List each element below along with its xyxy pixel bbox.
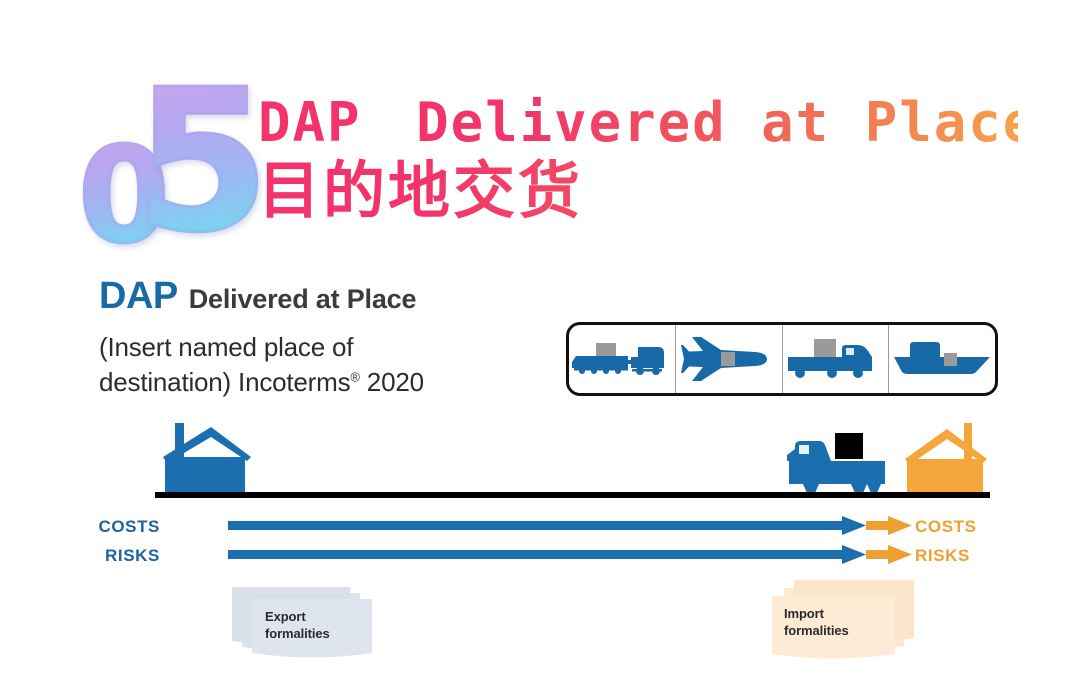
import-formalities-line1: Import <box>784 606 849 623</box>
sea-icon <box>892 339 992 379</box>
air-icon <box>681 337 777 381</box>
incoterm-subtitle-line2: destination) Incoterms® 2020 <box>99 365 424 400</box>
export-formalities-text: Export formalities <box>265 609 330 643</box>
incoterm-name: Delivered at Place <box>189 284 417 314</box>
costs-arrow <box>228 513 913 541</box>
incoterm-subtitle: (Insert named place of destination) Inco… <box>99 330 424 399</box>
buyer-factory-icon <box>903 423 991 495</box>
transport-mode-cell-rail[interactable] <box>569 325 676 393</box>
incoterm-subtitle-text: destination) Incoterms <box>99 367 350 397</box>
incoterm-year: 2020 <box>360 367 424 397</box>
transport-mode-cell-road[interactable] <box>783 325 890 393</box>
incoterm-subtitle-line1: (Insert named place of <box>99 330 424 365</box>
transport-mode-cell-air[interactable] <box>676 325 783 393</box>
incoterm-diagram: COSTS RISKS COSTS RISKS <box>0 405 1090 685</box>
import-formalities-line2: formalities <box>784 623 849 640</box>
transport-mode-cell-sea[interactable] <box>889 325 995 393</box>
export-formalities-line2: formalities <box>265 626 330 643</box>
delivery-truck-icon <box>785 433 895 495</box>
registered-mark: ® <box>350 369 359 384</box>
banner-separator: | <box>362 88 417 151</box>
export-formalities-line1: Export <box>265 609 330 626</box>
import-formalities-group: Import formalities <box>758 578 918 671</box>
banner-chinese: 目的地交货 <box>258 158 1018 223</box>
risks-arrow <box>228 542 913 570</box>
banner-title-line: DAP|Delivered at Place <box>258 96 1018 150</box>
seller-factory-icon <box>155 423 255 495</box>
incoterm-heading: DAPDelivered at Place <box>99 275 416 318</box>
banner-code: DAP <box>258 91 362 154</box>
costs-label-left: COSTS <box>70 517 160 537</box>
ground-line <box>155 492 990 498</box>
rail-icon <box>570 338 674 380</box>
slide-root: 0 5 DAP|Delivered at Place 目的地交货 DAPDeli… <box>0 0 1090 685</box>
balloon-digit-five: 5 <box>134 64 270 260</box>
banner-english: Delivered at Place <box>416 91 1037 154</box>
export-formalities-group: Export formalities <box>232 585 382 670</box>
import-formalities-text: Import formalities <box>784 606 849 640</box>
balloon-number: 0 5 <box>78 58 278 253</box>
banner-headline: DAP|Delivered at Place 目的地交货 <box>258 96 1018 223</box>
costs-label-right: COSTS <box>915 517 977 537</box>
risks-label-left: RISKS <box>70 546 160 566</box>
transport-modes-box <box>566 322 998 396</box>
incoterm-code: DAP <box>99 275 178 317</box>
road-icon <box>786 337 884 381</box>
risks-label-right: RISKS <box>915 546 970 566</box>
